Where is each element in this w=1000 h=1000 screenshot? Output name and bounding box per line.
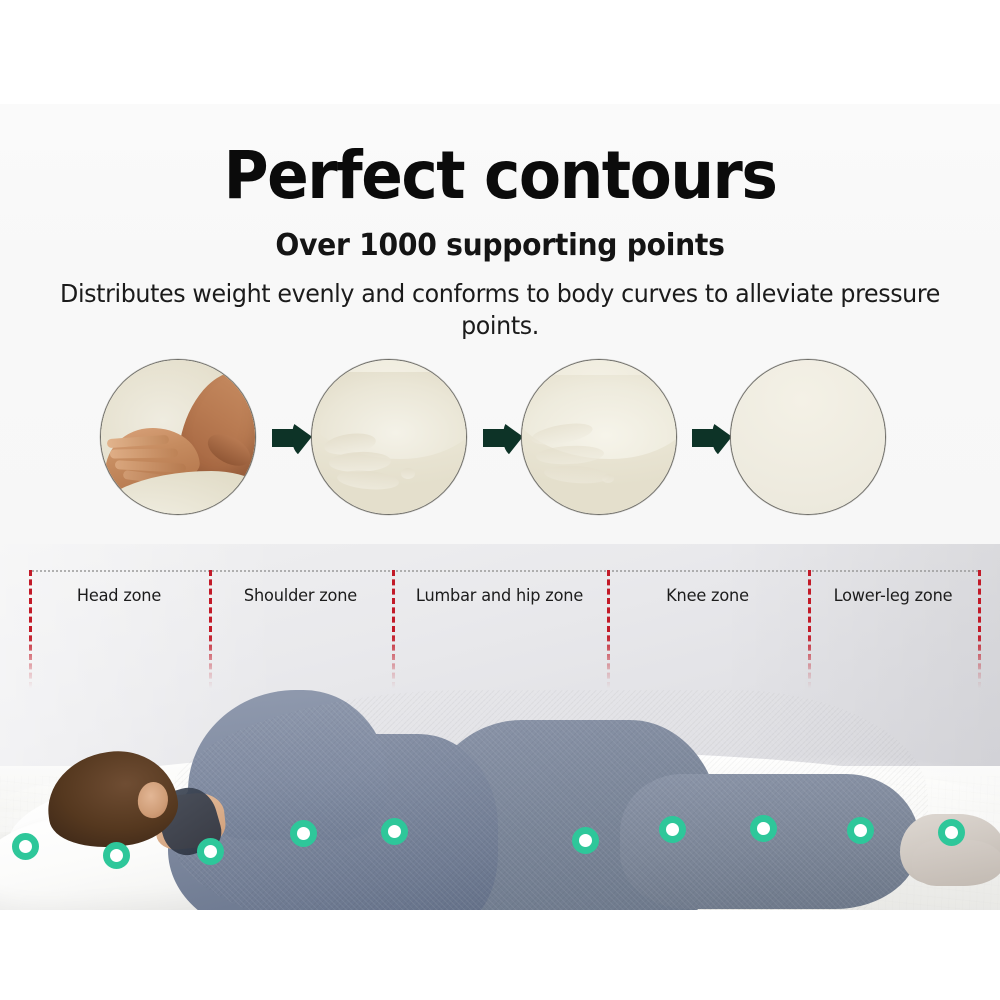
arrow-right-icon-3 bbox=[692, 419, 732, 457]
arrow-right-icon-1 bbox=[272, 419, 312, 457]
description-text: Distributes weight evenly and conforms t… bbox=[25, 278, 975, 342]
zone-label-shoulder: Shoulder zone bbox=[214, 586, 388, 606]
sleeper-legs bbox=[620, 774, 920, 909]
zone-divider bbox=[209, 570, 212, 688]
support-point-marker bbox=[572, 827, 599, 854]
support-point-marker bbox=[659, 816, 686, 843]
arrow-right-icon-2 bbox=[483, 419, 523, 457]
zone-divider bbox=[29, 570, 32, 688]
foam-step-2-deep-imprint-icon bbox=[311, 359, 467, 515]
zone-divider bbox=[808, 570, 811, 688]
zone-label-knee: Knee zone bbox=[612, 586, 803, 606]
product-feature-graphic: Perfect contours Over 1000 supporting po… bbox=[0, 0, 1000, 1000]
support-point-marker bbox=[381, 818, 408, 845]
support-point-marker bbox=[290, 820, 317, 847]
sleeper-sock bbox=[912, 840, 1000, 886]
zone-divider bbox=[978, 570, 981, 688]
support-point-marker bbox=[197, 838, 224, 865]
body-zone-diagram: Head zone Shoulder zone Lumbar and hip z… bbox=[0, 544, 1000, 694]
subheading: Over 1000 supporting points bbox=[30, 228, 970, 264]
support-point-marker bbox=[938, 819, 965, 846]
page-title: Perfect contours bbox=[35, 140, 965, 212]
foam-step-4-recovered-icon bbox=[730, 359, 886, 515]
zone-label-lower-leg: Lower-leg zone bbox=[812, 586, 974, 606]
support-point-marker bbox=[103, 842, 130, 869]
zone-divider bbox=[607, 570, 610, 688]
zone-label-head: Head zone bbox=[34, 586, 205, 606]
support-point-marker bbox=[750, 815, 777, 842]
bottom-white-strip bbox=[0, 910, 1000, 1000]
zone-label-lumbar-hip: Lumbar and hip zone bbox=[397, 586, 601, 606]
support-point-marker bbox=[847, 817, 874, 844]
foam-recovery-sequence bbox=[0, 355, 1000, 525]
zone-top-border bbox=[29, 570, 978, 572]
foam-step-3-fading-imprint-icon bbox=[521, 359, 677, 515]
zone-divider bbox=[392, 570, 395, 688]
foam-step-1-hand-pressing-icon bbox=[100, 359, 256, 515]
support-point-marker bbox=[12, 833, 39, 860]
